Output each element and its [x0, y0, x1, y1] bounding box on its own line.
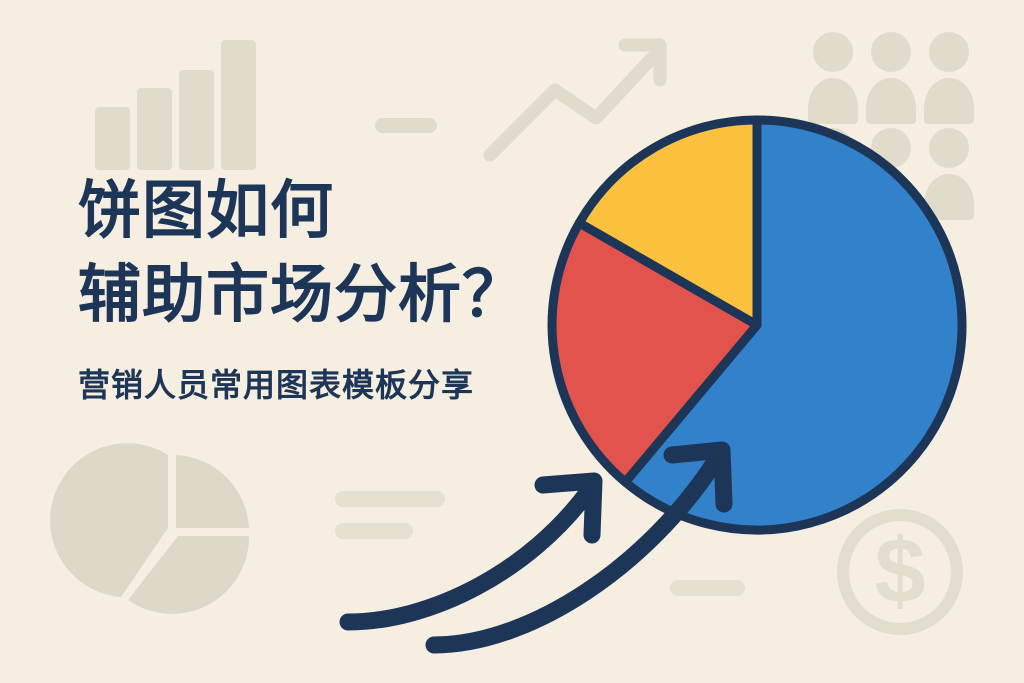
- poster-canvas: $ 饼图如何 辅助市场分析？ 营销人员常用图表模板分享: [0, 0, 1024, 683]
- growth-arrows: [0, 0, 1024, 683]
